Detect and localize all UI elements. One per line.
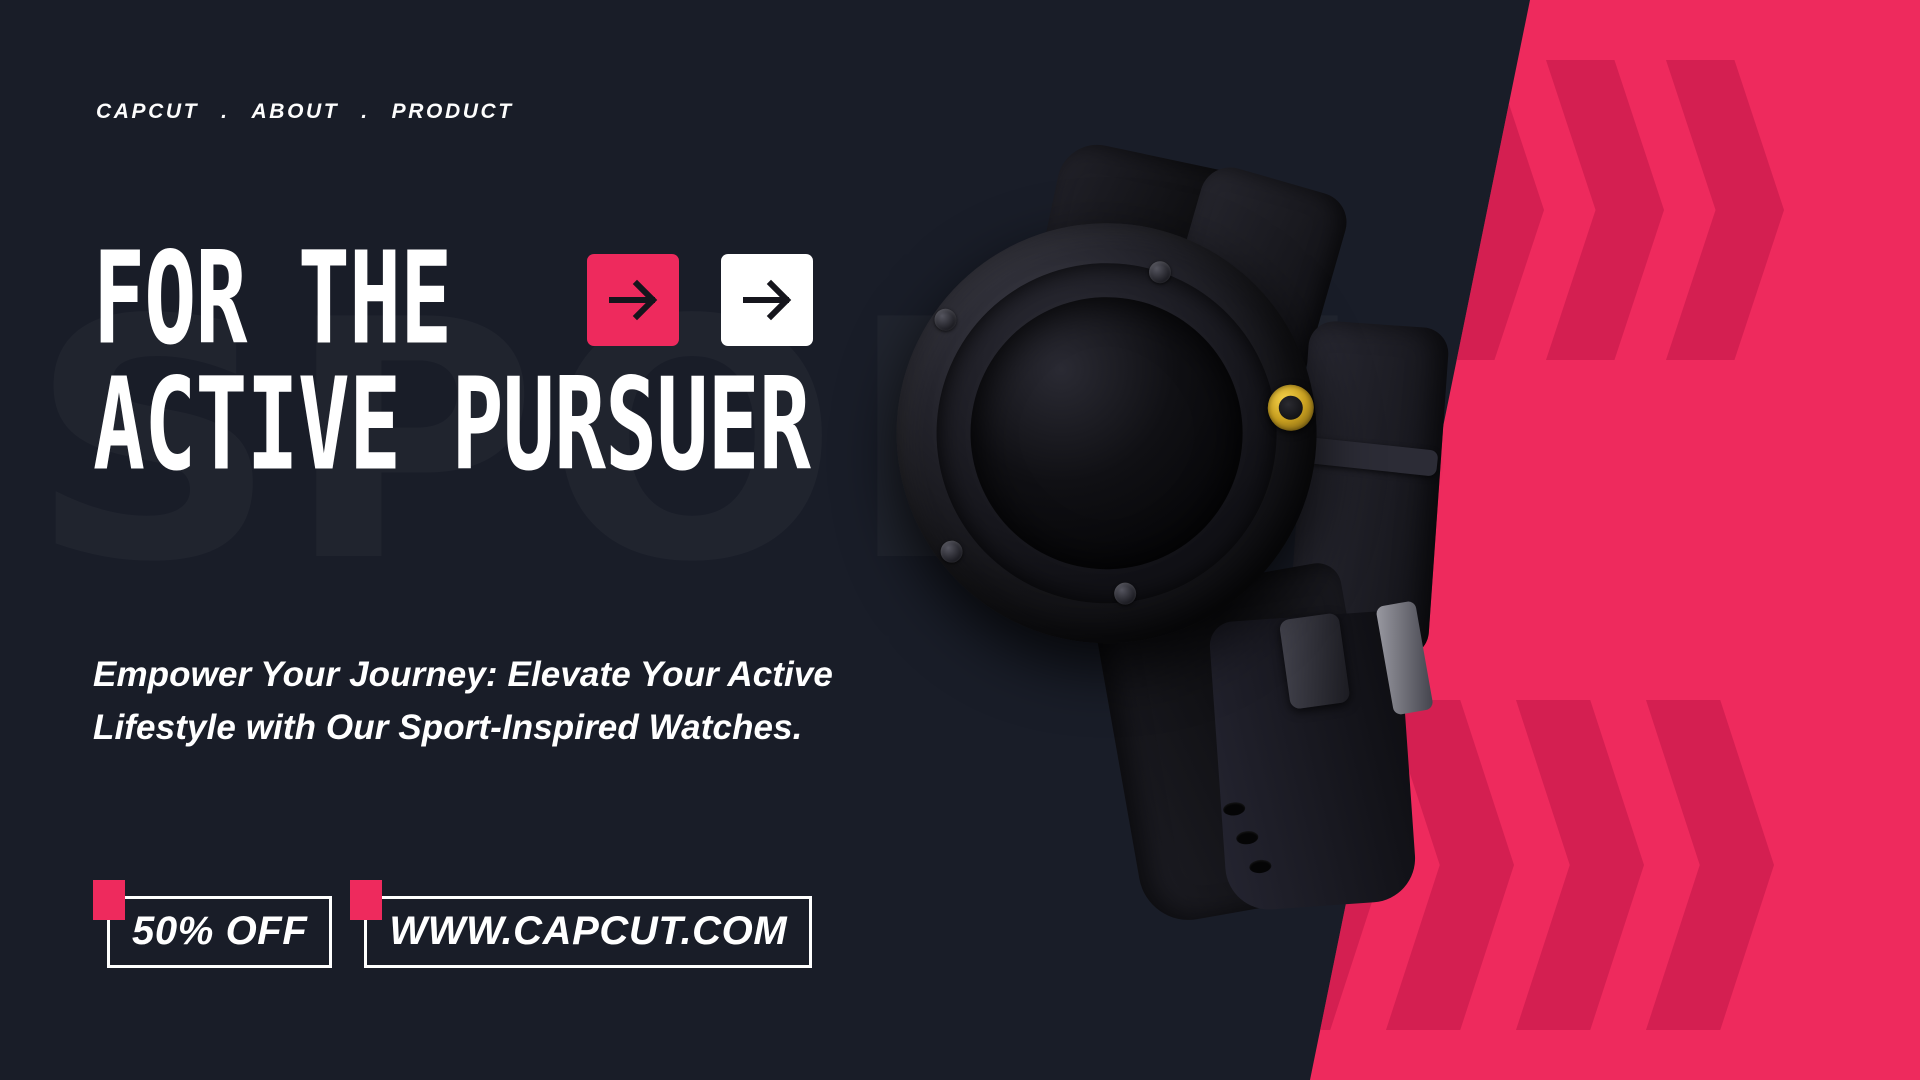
chevron-decoration [1516,700,1644,1030]
nav-separator: . [361,100,369,124]
website-badge[interactable]: WWW.CAPCUT.COM [350,880,812,968]
watch-case-screw [1114,582,1137,605]
chevron-decoration [1646,700,1774,1030]
top-navigation: CAPCUT . ABOUT . PRODUCT [96,100,514,124]
discount-badge-label[interactable]: 50% OFF [107,896,332,968]
chevron-decoration [1666,60,1784,360]
hero-subhead: Empower Your Journey: Elevate Your Activ… [93,648,853,754]
watch-strap-holes [1217,791,1356,894]
badge-corner-accent [93,880,125,920]
cta-primary-button[interactable] [587,254,679,346]
nav-item-product[interactable]: PRODUCT [392,100,514,124]
watch-buckle [1279,612,1351,709]
cta-secondary-button[interactable] [721,254,813,346]
nav-item-capcut[interactable]: CAPCUT [96,100,199,124]
headline-line-2: ACTIVE PURSUER [93,364,810,486]
arrow-right-icon [604,271,662,329]
arrow-right-icon [738,271,796,329]
chevron-decoration [1546,60,1664,360]
watch-screen [966,293,1247,574]
website-badge-label[interactable]: WWW.CAPCUT.COM [364,896,812,968]
discount-badge[interactable]: 50% OFF [93,880,332,968]
headline-line-1: FOR THE [93,239,452,361]
badge-corner-accent [350,880,382,920]
nav-item-about[interactable]: ABOUT [252,100,340,124]
nav-separator: . [221,100,229,124]
footer-badges: 50% OFF WWW.CAPCUT.COM [93,880,812,968]
hero-headline-block: FOR THE [93,248,989,477]
cta-arrow-group [587,254,813,346]
promo-banner: SPORT [0,0,1920,1080]
watch-case-screw [940,540,963,563]
